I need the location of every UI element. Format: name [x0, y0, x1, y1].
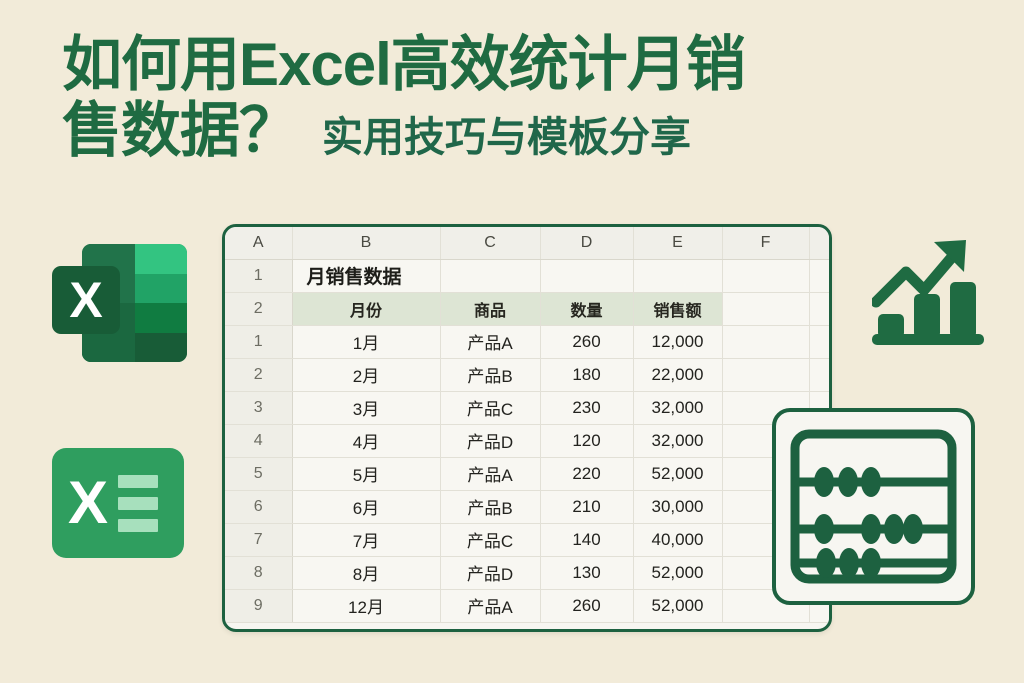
column-header-a[interactable]: A [225, 227, 292, 259]
table-row[interactable]: 4 4月 产品D 120 32,000 [225, 424, 831, 457]
column-header-d[interactable]: D [540, 227, 633, 259]
cell-f1[interactable] [722, 259, 809, 292]
excel-badge-lines-icon [118, 475, 158, 532]
row-number[interactable]: 6 [225, 490, 292, 523]
cell-month[interactable]: 3月 [292, 391, 440, 424]
spreadsheet-table[interactable]: A B C D E F 1 月销售数据 [222, 224, 832, 632]
cell-empty-f[interactable] [722, 358, 809, 391]
cell-amount[interactable]: 52,000 [633, 589, 722, 622]
cell-empty-g[interactable] [809, 325, 831, 358]
title-line-2: 售数据？ [62, 99, 298, 163]
cell-month[interactable]: 12月 [292, 589, 440, 622]
cell-c1[interactable] [440, 259, 540, 292]
cell-g2[interactable] [809, 292, 831, 325]
cell-product[interactable]: 产品A [440, 589, 540, 622]
cell-product[interactable]: 产品A [440, 325, 540, 358]
abacus-icon [772, 408, 975, 605]
table-row[interactable]: 3 3月 产品C 230 32,000 [225, 391, 831, 424]
cell-quantity[interactable]: 130 [540, 556, 633, 589]
column-header-partial[interactable] [809, 227, 831, 259]
table-header-amount[interactable]: 销售额 [633, 292, 722, 325]
excel-badge-line-1 [118, 475, 158, 488]
cell-quantity[interactable]: 120 [540, 424, 633, 457]
cell-amount[interactable]: 52,000 [633, 556, 722, 589]
cell-d1[interactable] [540, 259, 633, 292]
table-row[interactable]: 5 5月 产品A 220 52,000 [225, 457, 831, 490]
page-title: 如何用Excel高效统计月销 售数据？ 实用技巧与模板分享 [62, 33, 962, 162]
cell-quantity[interactable]: 140 [540, 523, 633, 556]
excel-badge-x-letter: X [68, 473, 108, 533]
excel-badge-line-2 [118, 497, 158, 510]
table-row[interactable]: 7 7月 产品C 140 40,000 [225, 523, 831, 556]
cell-g1[interactable] [809, 259, 831, 292]
row-number[interactable]: 4 [225, 424, 292, 457]
cell-amount[interactable]: 12,000 [633, 325, 722, 358]
column-header-row: A B C D E F [225, 227, 831, 259]
cell-product[interactable]: 产品C [440, 523, 540, 556]
table-row[interactable]: 8 8月 产品D 130 52,000 [225, 556, 831, 589]
excel-logo-icon: X [52, 238, 192, 378]
cell-product[interactable]: 产品C [440, 391, 540, 424]
cell-f2[interactable] [722, 292, 809, 325]
poster-canvas: 如何用Excel高效统计月销 售数据？ 实用技巧与模板分享 X X [0, 0, 1024, 683]
cell-product[interactable]: 产品B [440, 490, 540, 523]
row-number-2[interactable]: 2 [225, 292, 292, 325]
spreadsheet-grid: A B C D E F 1 月销售数据 [225, 227, 832, 623]
sheet-title-cell[interactable]: 月销售数据 [292, 259, 440, 292]
excel-logo-quad-1 [135, 244, 188, 274]
row-number[interactable]: 3 [225, 391, 292, 424]
cell-e1[interactable] [633, 259, 722, 292]
cell-product[interactable]: 产品D [440, 424, 540, 457]
cell-product[interactable]: 产品A [440, 457, 540, 490]
row-number-1[interactable]: 1 [225, 259, 292, 292]
table-row[interactable]: 2 2月 产品B 180 22,000 [225, 358, 831, 391]
cell-quantity[interactable]: 260 [540, 589, 633, 622]
row-number[interactable]: 1 [225, 325, 292, 358]
column-header-e[interactable]: E [633, 227, 722, 259]
cell-quantity[interactable]: 180 [540, 358, 633, 391]
excel-badge-line-3 [118, 519, 158, 532]
column-header-c[interactable]: C [440, 227, 540, 259]
cell-quantity[interactable]: 210 [540, 490, 633, 523]
page-subtitle: 实用技巧与模板分享 [322, 116, 691, 159]
table-row[interactable]: 6 6月 产品B 210 30,000 [225, 490, 831, 523]
column-header-f[interactable]: F [722, 227, 809, 259]
table-header-month[interactable]: 月份 [292, 292, 440, 325]
cell-month[interactable]: 8月 [292, 556, 440, 589]
cell-month[interactable]: 2月 [292, 358, 440, 391]
growth-chart-icon [872, 228, 992, 346]
table-header-quantity[interactable]: 数量 [540, 292, 633, 325]
excel-logo-quad-3 [135, 303, 188, 333]
excel-badge-icon: X [52, 448, 184, 558]
row-number[interactable]: 5 [225, 457, 292, 490]
cell-month[interactable]: 5月 [292, 457, 440, 490]
cell-amount[interactable]: 40,000 [633, 523, 722, 556]
table-row[interactable]: 1 1月 产品A 260 12,000 [225, 325, 831, 358]
cell-product[interactable]: 产品B [440, 358, 540, 391]
excel-logo-quad-4 [135, 333, 188, 363]
cell-amount[interactable]: 32,000 [633, 391, 722, 424]
row-number[interactable]: 2 [225, 358, 292, 391]
table-header-product[interactable]: 商品 [440, 292, 540, 325]
cell-empty-f[interactable] [722, 325, 809, 358]
title-line-1: 如何用Excel高效统计月销 [62, 33, 962, 97]
cell-month[interactable]: 7月 [292, 523, 440, 556]
row-number[interactable]: 7 [225, 523, 292, 556]
cell-amount[interactable]: 52,000 [633, 457, 722, 490]
cell-amount[interactable]: 30,000 [633, 490, 722, 523]
excel-logo-x-letter: X [52, 266, 120, 334]
table-row[interactable]: 9 12月 产品A 260 52,000 [225, 589, 831, 622]
cell-month[interactable]: 1月 [292, 325, 440, 358]
row-number[interactable]: 9 [225, 589, 292, 622]
cell-quantity[interactable]: 230 [540, 391, 633, 424]
cell-amount[interactable]: 22,000 [633, 358, 722, 391]
cell-month[interactable]: 4月 [292, 424, 440, 457]
cell-quantity[interactable]: 220 [540, 457, 633, 490]
table-header-row: 2 月份 商品 数量 销售额 [225, 292, 831, 325]
cell-amount[interactable]: 32,000 [633, 424, 722, 457]
cell-empty-g[interactable] [809, 358, 831, 391]
sheet-title-row: 1 月销售数据 [225, 259, 831, 292]
title-line-2-row: 售数据？ 实用技巧与模板分享 [62, 99, 962, 163]
cell-product[interactable]: 产品D [440, 556, 540, 589]
column-header-b[interactable]: B [292, 227, 440, 259]
cell-quantity[interactable]: 260 [540, 325, 633, 358]
cell-month[interactable]: 6月 [292, 490, 440, 523]
excel-logo-quad-2 [135, 274, 188, 304]
row-number[interactable]: 8 [225, 556, 292, 589]
